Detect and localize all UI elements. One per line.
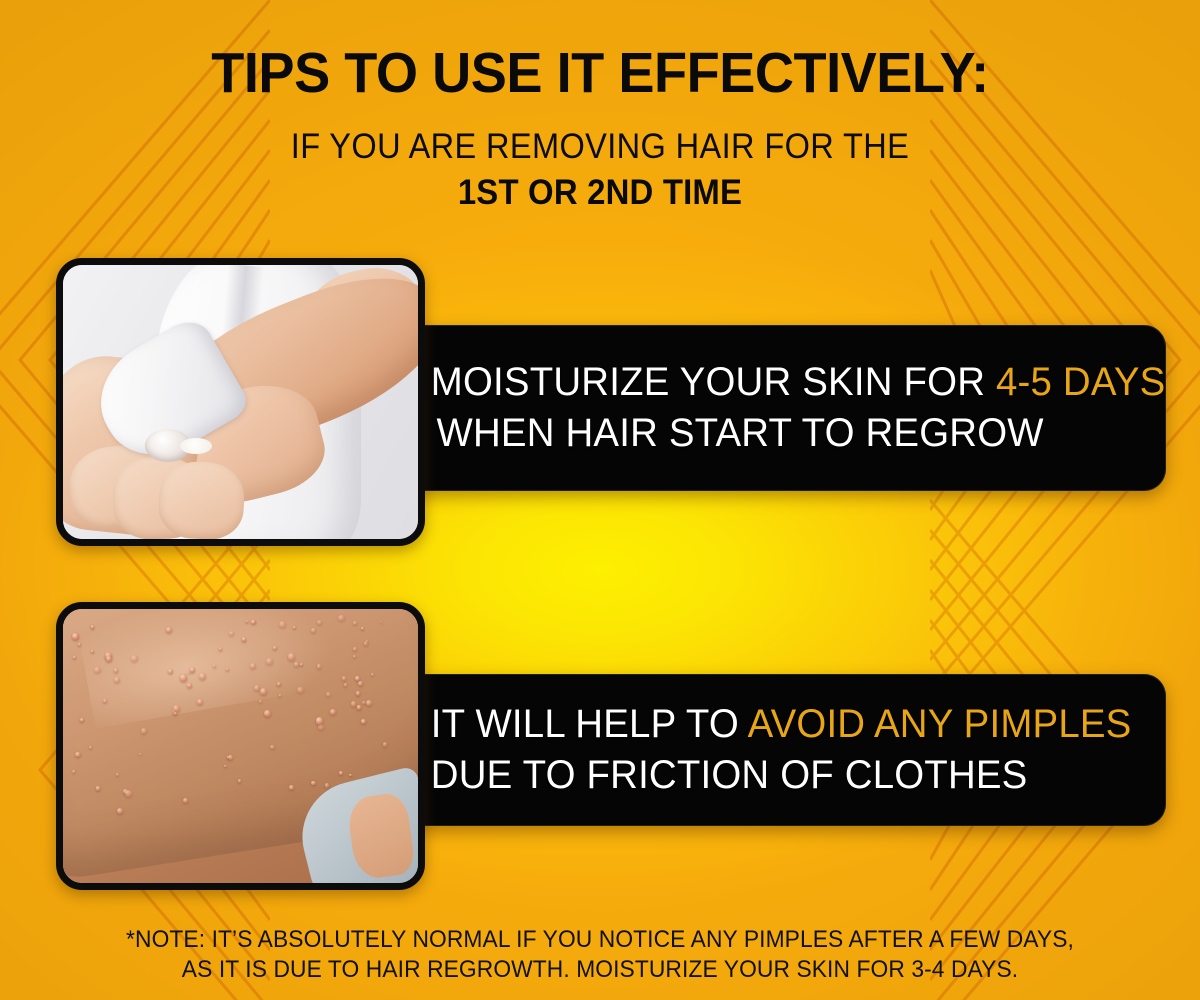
footer-note: *NOTE: IT’S ABSOLUTELY NORMAL IF YOU NOT… xyxy=(30,925,1170,985)
tip-2-line-2: DUE TO FRICTION OF CLOTHES xyxy=(431,750,1132,801)
tip-2-line-1: IT WILL HELP TO AVOID ANY PIMPLES xyxy=(431,699,1132,750)
tip-2-line-2-before: DUE TO FRICTION OF CLOTHES xyxy=(431,753,1028,797)
tip-1-line-2-before: WHEN HAIR START TO REGROW xyxy=(437,411,1044,455)
footer-note-line-2: AS IT IS DUE TO HAIR REGROWTH. MOISTURIZ… xyxy=(30,955,1170,985)
page-title: TIPS TO USE IT EFFECTIVELY: xyxy=(30,44,1170,102)
tip-2-line-1-before: IT WILL HELP TO xyxy=(431,702,748,746)
tip-1-line-1-highlight: 4-5 DAYS xyxy=(996,360,1165,404)
footer-note-line-1: *NOTE: IT’S ABSOLUTELY NORMAL IF YOU NOT… xyxy=(30,925,1170,955)
tip-2-photo-image xyxy=(63,609,418,883)
tip-2-photo xyxy=(56,602,425,890)
tip-1-line-1: MOISTURIZE YOUR SKIN FOR 4-5 DAYS xyxy=(431,357,1166,408)
tip-1-photo xyxy=(56,258,425,546)
tip-2-line-1-highlight: AVOID ANY PIMPLES xyxy=(748,702,1132,746)
tip-1-photo-image xyxy=(63,265,418,539)
subtitle-line-1: IF YOU ARE REMOVING HAIR FOR THE xyxy=(42,129,1158,166)
tip-1-line-1-before: MOISTURIZE YOUR SKIN FOR xyxy=(431,360,996,404)
subtitle-line-2: 1ST OR 2ND TIME xyxy=(36,175,1164,212)
tip-1-line-2: WHEN HAIR START TO REGROW xyxy=(431,408,1166,459)
infographic-poster: TIPS TO USE IT EFFECTIVELY: IF YOU ARE R… xyxy=(0,0,1200,1000)
header-block: TIPS TO USE IT EFFECTIVELY: IF YOU ARE R… xyxy=(0,44,1200,212)
